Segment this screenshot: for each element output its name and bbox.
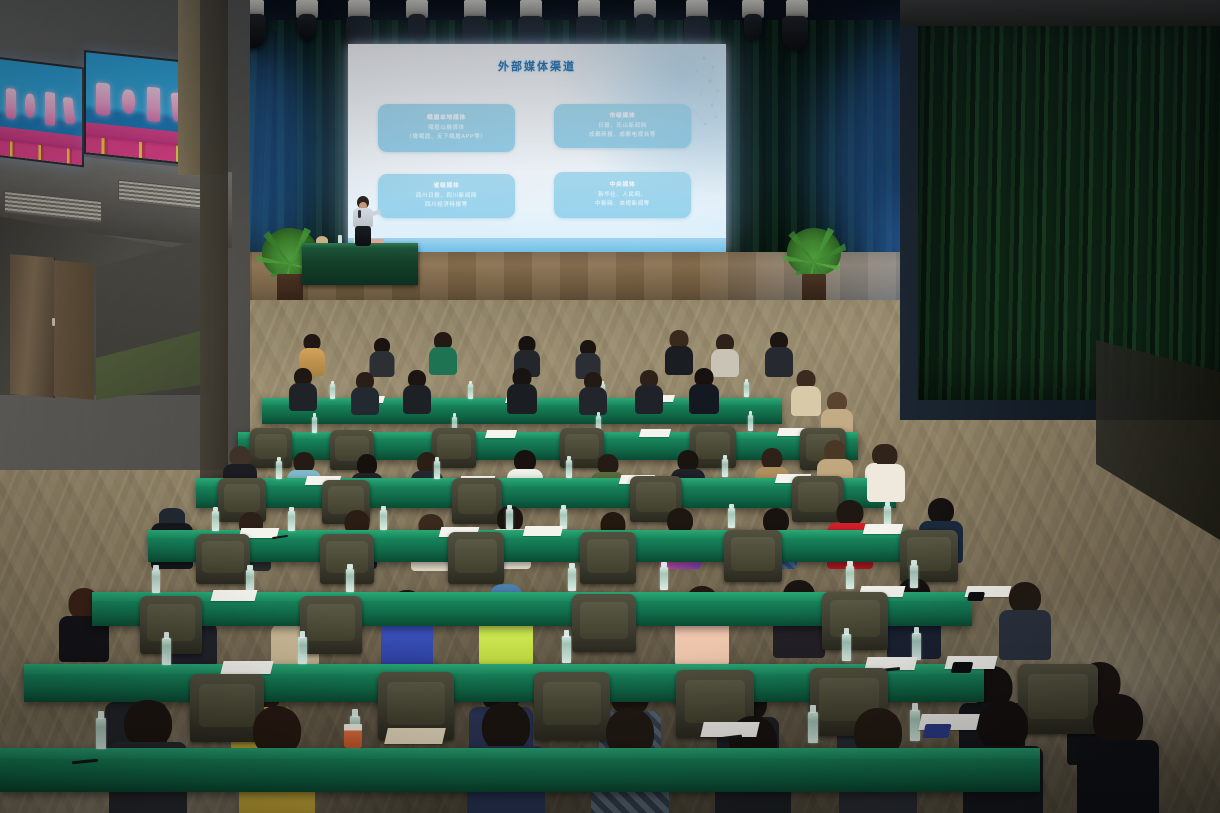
water-bottle xyxy=(312,417,317,433)
audience-member xyxy=(370,338,394,376)
wall-pillar xyxy=(200,0,228,480)
door-left[interactable] xyxy=(10,254,55,398)
water-bottle xyxy=(744,382,749,397)
smartphone xyxy=(967,592,985,601)
presenter-table xyxy=(302,243,418,285)
water-bottle xyxy=(468,384,473,399)
water-bottle xyxy=(212,511,219,531)
audience-member xyxy=(766,332,792,376)
smartphone xyxy=(951,662,974,673)
chair[interactable] xyxy=(580,532,636,584)
stage-light xyxy=(636,14,654,40)
notepad xyxy=(384,728,446,744)
presentation-screen: 外部媒体渠道 峨眉本地媒体 峨眉山融媒体 （微峨眉、天下峨眉APP等） 市级媒体… xyxy=(348,44,726,252)
water-bottle xyxy=(330,384,335,399)
water-bottle xyxy=(288,511,295,531)
stage-light xyxy=(782,16,808,50)
water-bottle xyxy=(338,235,342,245)
water-bottle xyxy=(96,718,106,749)
audience-member xyxy=(1078,694,1158,813)
chair[interactable] xyxy=(250,428,292,468)
chair[interactable] xyxy=(822,592,888,650)
water-bottle xyxy=(162,638,171,665)
audience-member xyxy=(290,368,316,408)
audience-member xyxy=(352,372,378,412)
door-handle[interactable] xyxy=(52,318,55,326)
table-paper xyxy=(639,429,671,437)
chair[interactable] xyxy=(448,532,504,584)
slide-box-central-media: 中央媒体 新华社、人民网、 中新网、央视新闻等 xyxy=(554,172,691,218)
table-paper xyxy=(211,590,258,601)
chair[interactable] xyxy=(572,594,636,652)
audience-member xyxy=(666,330,692,374)
water-bottle xyxy=(912,633,921,660)
slide-box-local-media: 峨眉本地媒体 峨眉山融媒体 （微峨眉、天下峨眉APP等） xyxy=(378,104,515,152)
water-bottle xyxy=(728,508,735,528)
water-bottle xyxy=(506,509,513,529)
audience-member xyxy=(404,370,430,412)
water-bottle xyxy=(910,565,918,588)
table-paper xyxy=(485,430,517,438)
audience-member xyxy=(508,368,536,412)
water-bottle xyxy=(842,634,851,661)
water-bottle xyxy=(276,461,282,479)
chair[interactable] xyxy=(196,534,250,584)
notebook-blue xyxy=(922,724,951,738)
stage-light xyxy=(408,14,426,40)
stage-light xyxy=(298,14,316,40)
slide-box-city-media: 市级媒体 日报、乐山新闻网 成都商报、成都电视台等 xyxy=(554,104,691,148)
audience-member xyxy=(868,444,904,500)
water-bottle xyxy=(808,712,818,743)
water-bottle xyxy=(380,510,387,530)
water-bottle xyxy=(566,460,572,478)
water-bottle xyxy=(152,570,160,593)
audience-member xyxy=(792,370,820,414)
microphone xyxy=(358,210,361,218)
slide-box-province-media: 省级媒体 四川日报、四川新闻网 四川经济特报等 xyxy=(378,174,515,218)
balcony-screen-left xyxy=(0,57,84,168)
table-paper xyxy=(700,722,759,737)
water-bottle xyxy=(748,415,753,431)
table-object xyxy=(316,236,328,245)
potted-plant-right xyxy=(786,228,842,308)
stage-light xyxy=(744,14,762,40)
water-bottle xyxy=(562,636,571,663)
door-right[interactable] xyxy=(54,260,94,399)
audience-member xyxy=(636,370,662,412)
audience-table-row-7 xyxy=(0,748,1040,792)
conference-hall-photo: 外部媒体渠道 峨眉本地媒体 峨眉山融媒体 （微峨眉、天下峨眉APP等） 市级媒体… xyxy=(0,0,1220,813)
water-bottle xyxy=(346,569,354,592)
water-bottle xyxy=(568,568,576,591)
table-paper xyxy=(863,524,904,534)
right-green-curtain xyxy=(918,0,1220,400)
presenter xyxy=(350,196,376,246)
slide-title: 外部媒体渠道 xyxy=(348,58,726,74)
curtain-rail xyxy=(900,0,1220,26)
water-bottle xyxy=(884,506,891,526)
chair[interactable] xyxy=(140,596,202,654)
water-bottle xyxy=(722,459,728,477)
chair[interactable] xyxy=(724,530,782,582)
water-bottle xyxy=(660,567,668,590)
audience-member xyxy=(690,368,718,412)
table-paper xyxy=(220,661,273,674)
water-bottle xyxy=(298,637,307,664)
chair[interactable] xyxy=(300,596,362,654)
chair[interactable] xyxy=(900,530,958,582)
audience-member xyxy=(580,372,606,412)
water-bottle xyxy=(846,566,854,589)
audience-member xyxy=(430,332,456,374)
drink-cup xyxy=(344,724,362,748)
table-paper xyxy=(523,526,564,536)
water-bottle xyxy=(434,461,440,479)
